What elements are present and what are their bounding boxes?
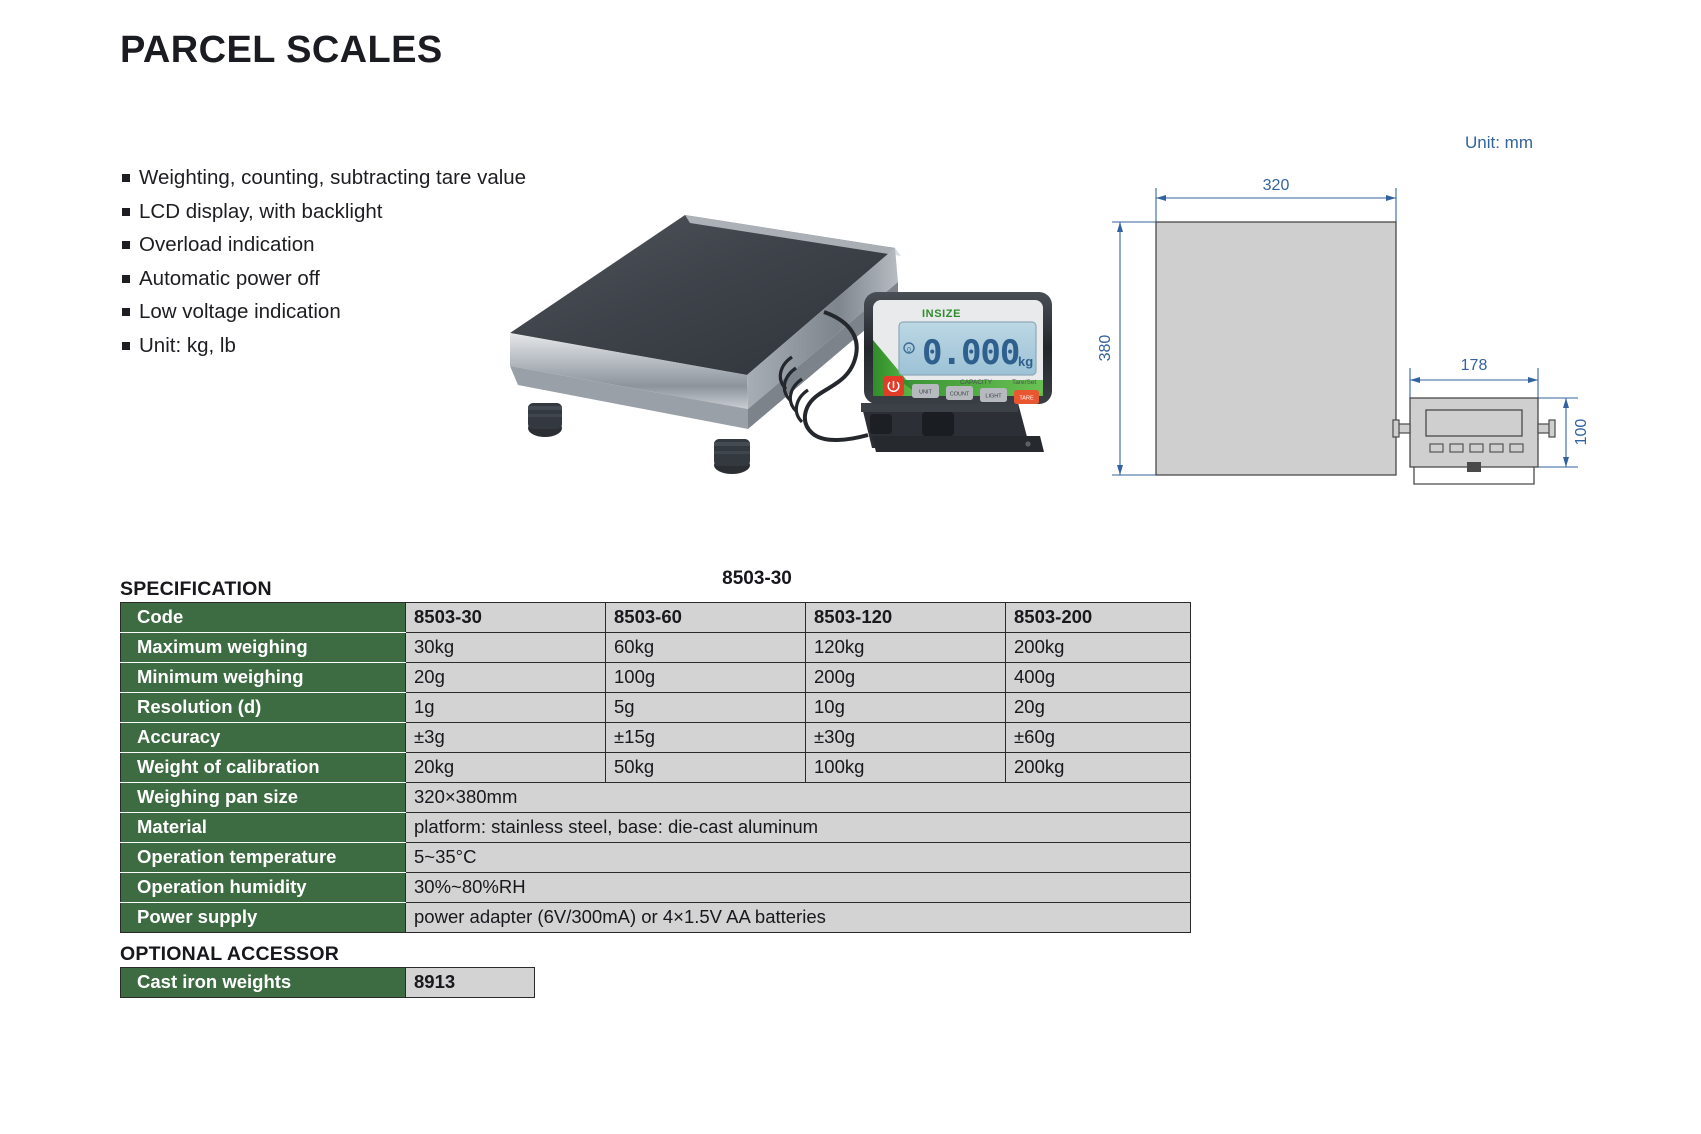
row-value: 100kg: [806, 753, 1006, 783]
bullet-square-icon: [122, 308, 130, 316]
row-label: Minimum weighing: [121, 663, 406, 693]
row-value: 20g: [406, 663, 606, 693]
row-label: Weight of calibration: [121, 753, 406, 783]
row-value: 100g: [606, 663, 806, 693]
feature-label: Low voltage indication: [139, 300, 341, 324]
unit-label: Unit: mm: [1465, 133, 1533, 153]
dim-width-320: 320: [1263, 177, 1290, 194]
table-row: Cast iron weights 8913: [121, 968, 535, 998]
row-label: Cast iron weights: [121, 968, 406, 998]
bullet-square-icon: [122, 275, 130, 283]
table-row: Weight of calibration 20kg 50kg 100kg 20…: [121, 753, 1191, 783]
feature-label: Weighting, counting, subtracting tare va…: [139, 166, 526, 190]
product-caption: 8503-30: [452, 568, 1062, 590]
brand-logo: INSIZE: [922, 308, 961, 320]
table-row: Power supply power adapter (6V/300mA) or…: [121, 903, 1191, 933]
row-value: 50kg: [606, 753, 806, 783]
row-value: 8503-200: [1006, 603, 1191, 633]
table-row: Code 8503-30 8503-60 8503-120 8503-200: [121, 603, 1191, 633]
feature-label: Unit: kg, lb: [139, 334, 236, 358]
row-value: ±30g: [806, 723, 1006, 753]
row-label: Operation temperature: [121, 843, 406, 873]
bullet-square-icon: [122, 241, 130, 249]
feature-label: Automatic power off: [139, 267, 320, 291]
table-row: Accuracy ±3g ±15g ±30g ±60g: [121, 723, 1191, 753]
row-label: Code: [121, 603, 406, 633]
bullet-square-icon: [122, 174, 130, 182]
row-label: Accuracy: [121, 723, 406, 753]
row-label: Maximum weighing: [121, 633, 406, 663]
table-row: Operation humidity 30%~80%RH: [121, 873, 1191, 903]
row-value: 5g: [606, 693, 806, 723]
svg-text:LIGHT: LIGHT: [985, 394, 1002, 400]
row-value: 10g: [806, 693, 1006, 723]
indicator-front-view: 178 100: [1393, 357, 1590, 484]
row-label: Operation humidity: [121, 873, 406, 903]
weighing-platform: [510, 215, 901, 474]
row-value: 400g: [1006, 663, 1191, 693]
row-value: power adapter (6V/300mA) or 4×1.5V AA ba…: [406, 903, 1191, 933]
feature-label: Overload indication: [139, 233, 315, 257]
row-value: 5~35°C: [406, 843, 1191, 873]
tare-label: Tare/Set: [1012, 379, 1036, 386]
specification-table: Code 8503-30 8503-60 8503-120 8503-200 M…: [120, 602, 1191, 933]
feature-label: LCD display, with backlight: [139, 200, 382, 224]
scale-foot: [528, 403, 562, 437]
capacity-label: CAPACITY: [960, 379, 993, 386]
row-value: 1g: [406, 693, 606, 723]
row-value: ±60g: [1006, 723, 1191, 753]
scale-foot: [714, 439, 750, 474]
optional-accessor-table: Cast iron weights 8913: [120, 967, 535, 998]
table-row: Minimum weighing 20g 100g 200g 400g: [121, 663, 1191, 693]
table-row: Weighing pan size 320×380mm: [121, 783, 1191, 813]
indicator-screen-outline: [1426, 410, 1522, 436]
parcel-scale-illustration: INSIZE 0 0.000 kg CAPACITY Tare/Set UNIT…: [452, 190, 1062, 520]
table-row: Material platform: stainless steel, base…: [121, 813, 1191, 843]
row-value: ±15g: [606, 723, 806, 753]
dimension-drawing: 320 380 178 100: [1090, 170, 1620, 510]
dim-height-380: 380: [1097, 335, 1114, 362]
dimension-drawing-svg: 320 380 178 100: [1090, 170, 1620, 510]
row-value: 60kg: [606, 633, 806, 663]
row-value: 8913: [406, 968, 535, 998]
platform-outline: [1156, 222, 1396, 475]
lcd-unit: kg: [1018, 354, 1033, 369]
specification-heading: SPECIFICATION: [120, 578, 272, 601]
row-value: 320×380mm: [406, 783, 1191, 813]
row-value: 8503-30: [406, 603, 606, 633]
list-item: Weighting, counting, subtracting tare va…: [122, 166, 642, 190]
product-photo: INSIZE 0 0.000 kg CAPACITY Tare/Set UNIT…: [452, 190, 1062, 520]
row-label: Resolution (d): [121, 693, 406, 723]
row-value: 200kg: [1006, 753, 1191, 783]
lcd-value: 0.000: [922, 333, 1019, 373]
row-value: 30kg: [406, 633, 606, 663]
table-row: Resolution (d) 1g 5g 10g 20g: [121, 693, 1191, 723]
indicator-display-unit: INSIZE 0 0.000 kg CAPACITY Tare/Set UNIT…: [861, 292, 1052, 452]
row-value: 20g: [1006, 693, 1191, 723]
row-value: 20kg: [406, 753, 606, 783]
dim-height-100: 100: [1573, 419, 1590, 446]
row-value: 200kg: [1006, 633, 1191, 663]
svg-text:0: 0: [907, 347, 911, 354]
table-row: Operation temperature 5~35°C: [121, 843, 1191, 873]
dim-width-178: 178: [1461, 357, 1488, 374]
row-value: platform: stainless steel, base: die-cas…: [406, 813, 1191, 843]
row-value: 200g: [806, 663, 1006, 693]
row-value: ±3g: [406, 723, 606, 753]
row-label: Power supply: [121, 903, 406, 933]
table-row: Maximum weighing 30kg 60kg 120kg 200kg: [121, 633, 1191, 663]
catalog-page: PARCEL SCALES Weighting, counting, subtr…: [0, 0, 1701, 1134]
row-label: Material: [121, 813, 406, 843]
svg-text:TARE: TARE: [1019, 396, 1034, 402]
row-value: 120kg: [806, 633, 1006, 663]
row-value: 8503-60: [606, 603, 806, 633]
page-title: PARCEL SCALES: [120, 29, 443, 72]
row-label: Weighing pan size: [121, 783, 406, 813]
row-value: 8503-120: [806, 603, 1006, 633]
row-value: 30%~80%RH: [406, 873, 1191, 903]
svg-text:UNIT: UNIT: [919, 390, 932, 396]
optional-accessor-heading: OPTIONAL ACCESSOR: [120, 943, 339, 966]
bullet-square-icon: [122, 208, 130, 216]
bullet-square-icon: [122, 342, 130, 350]
svg-text:COUNT: COUNT: [950, 392, 970, 398]
